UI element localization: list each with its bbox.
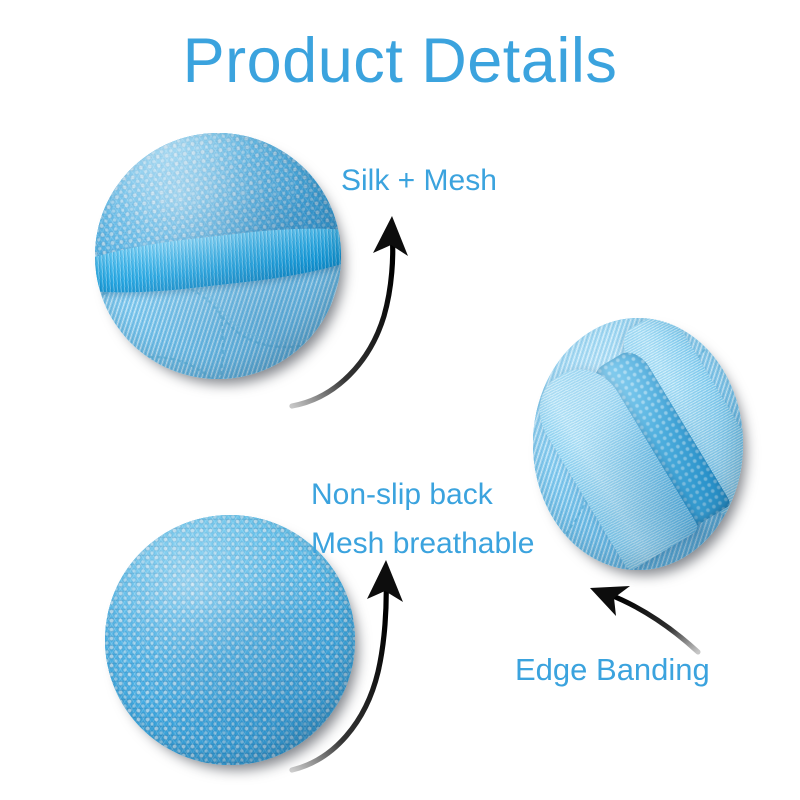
callout-label-non-slip-back: Non-slip back	[311, 477, 493, 513]
photo-sheen-overlay	[533, 318, 743, 570]
callout-label-mesh-breathable: Mesh breathable	[311, 526, 534, 562]
page-title: Product Details	[0, 28, 800, 94]
product-details-infographic: Product Details	[0, 0, 800, 800]
callout-label-silk-mesh: Silk + Mesh	[341, 163, 497, 199]
edge-banding-closeup-photo	[533, 318, 743, 570]
photo-sheen-overlay	[95, 133, 341, 379]
silk-mesh-closeup-photo	[95, 133, 341, 379]
callout-label-edge-banding: Edge Banding	[515, 651, 710, 688]
curved-arrow-down-left-icon	[574, 568, 704, 658]
